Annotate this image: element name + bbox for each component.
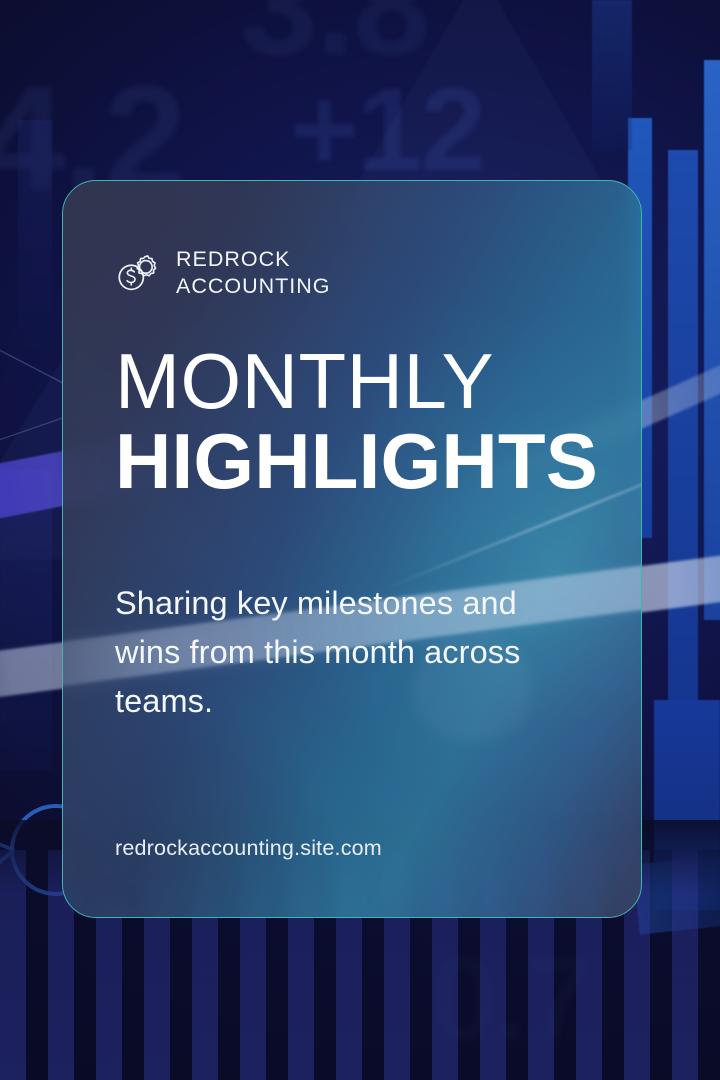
background-bar-6 <box>592 0 632 150</box>
brand-name-line1: REDROCK <box>176 246 331 273</box>
headline: MONTHLY HIGHLIGHTS <box>115 345 589 502</box>
brand-name-line2: ACCOUNTING <box>176 273 331 300</box>
background-bar-3 <box>704 60 720 620</box>
subtitle-text: Sharing key milestones and wins from thi… <box>115 579 589 725</box>
website-url[interactable]: redrockaccounting.site.com <box>115 836 382 861</box>
brand-name: REDROCK ACCOUNTING <box>176 246 331 301</box>
background-bar-left-2 <box>18 120 52 350</box>
brand-logo: REDROCK ACCOUNTING <box>115 181 589 301</box>
card-content: REDROCK ACCOUNTING MONTHLY HIGHLIGHTS Sh… <box>63 181 641 917</box>
background-bar-2 <box>668 150 698 790</box>
coin-gear-icon <box>115 251 161 295</box>
poster-canvas: 4.2 3.8 +12 0.7 <box>0 0 720 1080</box>
headline-line2: HIGHLIGHTS <box>115 422 589 502</box>
highlight-card: REDROCK ACCOUNTING MONTHLY HIGHLIGHTS Sh… <box>62 180 642 918</box>
headline-line1: MONTHLY <box>115 345 589 418</box>
